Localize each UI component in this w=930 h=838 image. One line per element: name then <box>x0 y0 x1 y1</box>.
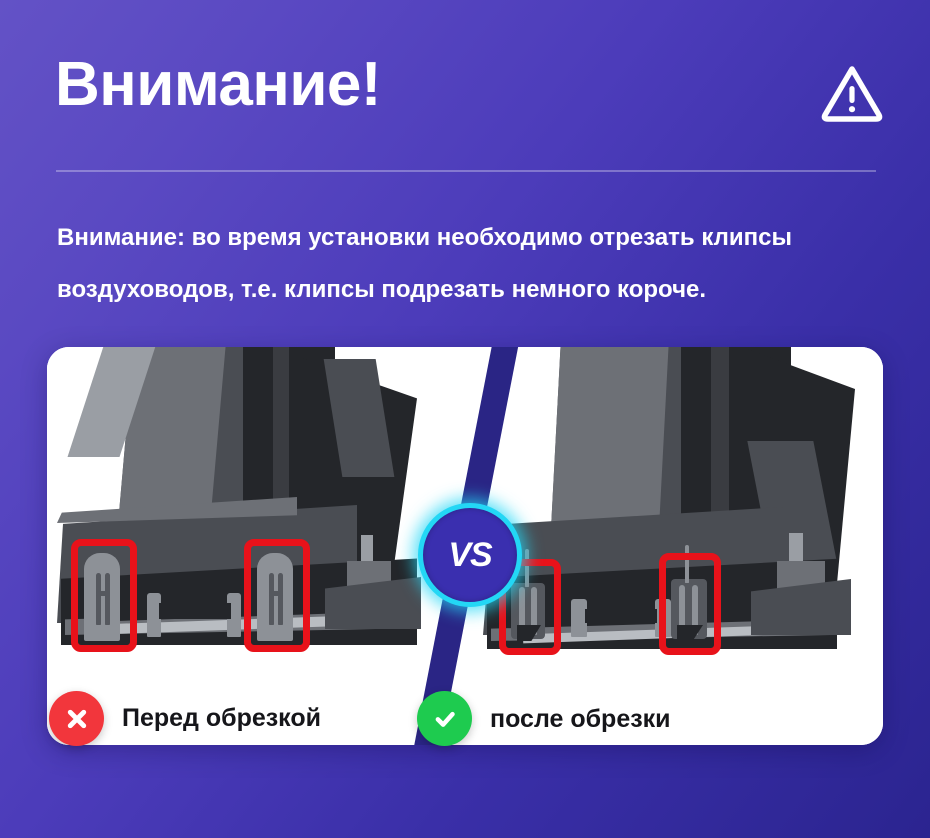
promo-warning-banner: Внимание! Внимание: во время установки н… <box>0 0 930 838</box>
after-photo-pane <box>459 347 883 745</box>
before-photo-pane <box>47 347 471 745</box>
check-circle-icon <box>417 691 472 746</box>
after-photo <box>459 347 883 745</box>
cross-circle-icon <box>49 691 104 746</box>
clip-highlight-box <box>71 539 137 652</box>
vs-badge: VS <box>418 503 522 607</box>
clip-highlight-box <box>244 539 310 652</box>
before-photo <box>47 347 471 745</box>
before-caption: Перед обрезкой <box>122 704 321 733</box>
page-title: Внимание! <box>55 52 381 117</box>
intro-text: Внимание: во время установки необходимо … <box>57 212 887 316</box>
clip-highlight-box <box>659 553 721 655</box>
warning-triangle-icon <box>820 63 884 123</box>
vs-label: VS <box>448 538 491 572</box>
header-divider <box>56 170 876 172</box>
after-caption: после обрезки <box>490 705 671 734</box>
